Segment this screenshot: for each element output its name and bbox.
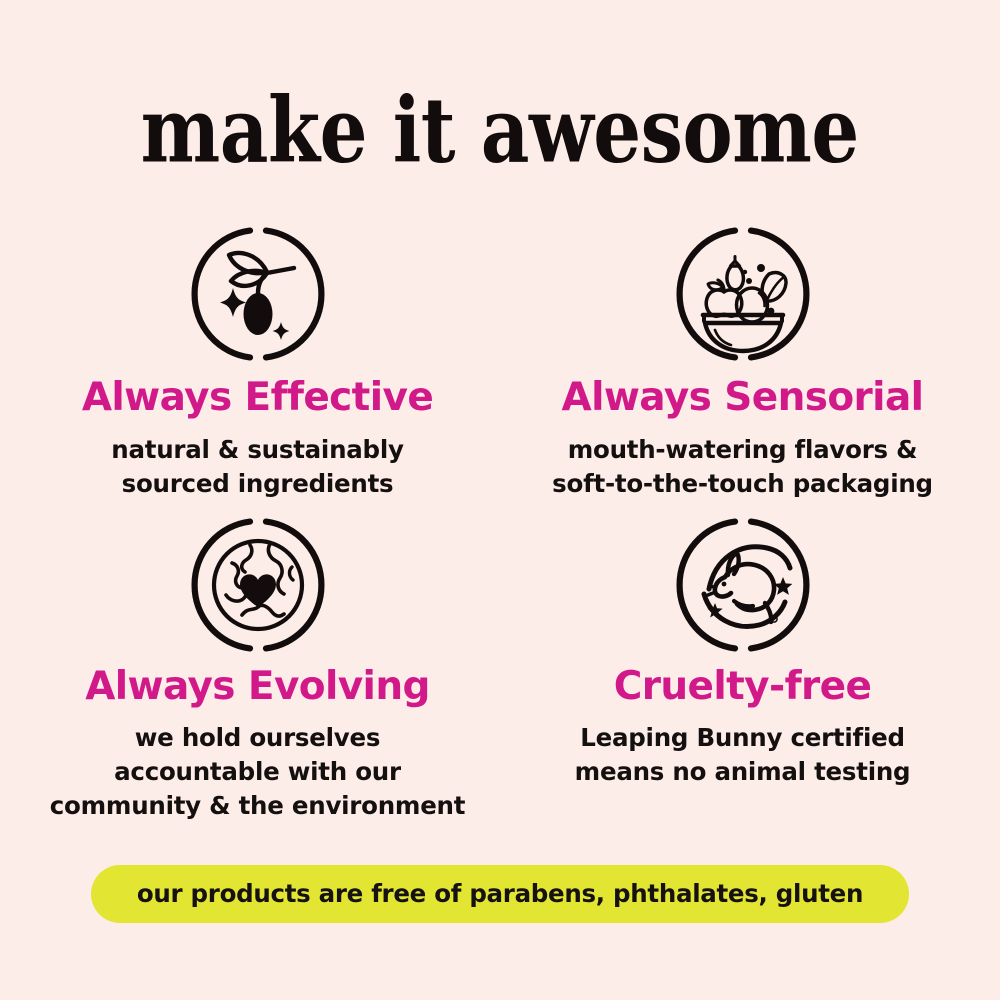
feature-body-line: soft-to-the-touch packaging — [552, 467, 933, 501]
feature-title: Cruelty-free — [614, 667, 872, 708]
feature-body-line: accountable with our — [50, 755, 465, 789]
feature-body-line: mouth-watering flavors & — [552, 433, 933, 467]
feature-body: mouth-watering flavors & soft-to-the-tou… — [552, 433, 933, 501]
marketing-graphic: make it awesome — [0, 0, 1000, 1000]
leaping-bunny-icon — [673, 515, 813, 655]
feature-title: Always Effective — [82, 378, 433, 419]
free-of-badge: our products are free of parabens, phtha… — [91, 865, 909, 923]
feature-title: Always Sensorial — [562, 378, 924, 419]
feature-body-line: natural & sustainably — [111, 433, 403, 467]
feature-cruelty-free: Cruelty-free Leaping Bunny certified mea… — [505, 515, 980, 823]
feature-body: Leaping Bunny certified means no animal … — [575, 721, 911, 789]
feature-body-line: community & the environment — [50, 789, 465, 823]
feature-body: natural & sustainably sourced ingredient… — [111, 433, 403, 501]
feature-body-line: we hold ourselves — [50, 721, 465, 755]
page-title: make it awesome — [141, 86, 859, 176]
feature-always-effective: Always Effective natural & sustainably s… — [20, 224, 495, 501]
feature-always-evolving: Always Evolving we hold ourselves accoun… — [20, 515, 495, 823]
footer-banner-row: our products are free of parabens, phtha… — [0, 865, 1000, 923]
feature-always-sensorial: Always Sensorial mouth-watering flavors … — [505, 224, 980, 501]
feature-body-line: sourced ingredients — [111, 467, 403, 501]
globe-heart-icon — [188, 515, 328, 655]
fruit-bowl-icon — [673, 224, 813, 364]
features-grid: Always Effective natural & sustainably s… — [20, 224, 980, 823]
feature-body-line: Leaping Bunny certified — [575, 721, 911, 755]
feature-body: we hold ourselves accountable with our c… — [50, 721, 465, 822]
feature-title: Always Evolving — [85, 667, 430, 708]
feature-body-line: means no animal testing — [575, 755, 911, 789]
olive-branch-sparkle-icon — [188, 224, 328, 364]
